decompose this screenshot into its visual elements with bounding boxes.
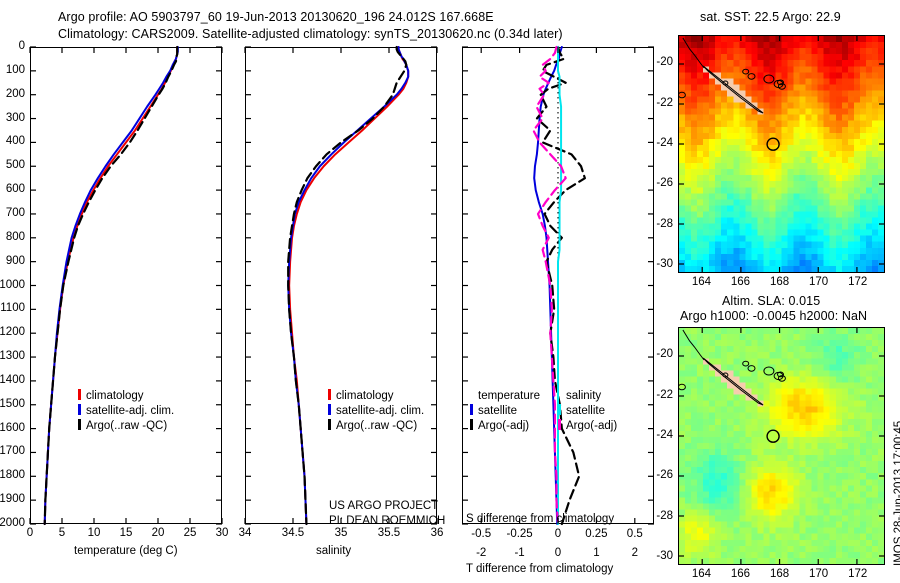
x-tick-label: 34.5 [282,527,304,539]
temperature-y-ticks: 0100200300400500600700800900100011001200… [0,47,30,524]
difference-legend: temperaturesatelliteArgo(-adj)salinitysa… [470,389,617,434]
temperature-legend-item: climatology [78,389,174,404]
map-x-tick-label: 170 [809,568,828,580]
x-tick-label: 25 [184,527,197,539]
y-tick-label: 500 [6,159,25,171]
salinity-legend-item: Argo(..raw -QC) [328,419,424,434]
y-tick-label: 400 [6,135,25,147]
salinity-legend-item: climatology [328,389,424,404]
x-tick-label: 0 [555,528,561,540]
y-tick-label: 1600 [0,422,25,434]
y-tick-label: 1700 [0,445,25,457]
x-tick-label: 15 [120,527,133,539]
difference-legend-header: salinity [558,389,617,404]
map-y-tick-label: -30 [656,550,673,562]
map-y-tick-label: -28 [656,510,673,522]
legend-color-swatch [328,404,331,415]
x-tick-label: -1 [514,547,524,559]
map-y-tick-label: -24 [656,429,673,441]
legend-label: satellite-adj. clim. [336,405,424,417]
legend-label: Argo(..raw -QC) [336,420,417,432]
salinity-axis-label: salinity [316,545,351,557]
figure-title-line2: Climatology: CARS2009. Satellite-adjuste… [58,27,563,41]
sla-map-x-ticks: 164166168170172 [678,568,885,583]
map-x-tick-label: 166 [731,276,750,288]
map-x-tick-label: 164 [692,568,711,580]
project-credit-line1: US ARGO PROJECT [329,500,438,512]
difference-plot [462,47,654,524]
sst-map-frame [678,35,885,273]
legend-color-swatch [470,404,473,415]
difference-legend-item: Argo(-adj) [470,419,540,434]
project-credit-line2: PI: DEAN ROEMMICH [329,515,445,527]
map-y-tick-label: -22 [656,97,673,109]
x-tick-label: 2 [632,547,638,559]
x-tick-label: 34 [239,527,252,539]
sst-map-field [679,36,884,272]
difference-legend-item: satellite [470,404,540,419]
y-tick-label: 600 [6,183,25,195]
map-x-tick-label: 172 [848,276,867,288]
legend-label: Argo(-adj) [566,420,617,432]
difference-x-ticks-bottom: -2-1012 [462,547,654,562]
temperature-legend-item: Argo(..raw -QC) [78,419,174,434]
map-y-tick-label: -26 [656,177,673,189]
y-tick-label: 200 [6,88,25,100]
y-tick-label: 0 [19,40,25,52]
y-tick-label: 100 [6,64,25,76]
x-tick-label: 0 [27,527,33,539]
salinity-legend-item: satellite-adj. clim. [328,404,424,419]
legend-label: Argo(-adj) [478,420,529,432]
temperature-legend: climatologysatellite-adj. clim.Argo(..ra… [78,389,174,434]
legend-color-swatch [78,404,81,415]
y-tick-label: 1400 [0,374,25,386]
map-y-tick-label: -30 [656,258,673,270]
difference-legend-column: salinitysatelliteArgo(-adj) [558,389,617,434]
map-x-tick-label: 170 [809,276,828,288]
difference-axis-label-top: S difference from climatology [466,513,614,525]
sst-map-title: sat. SST: 22.5 Argo: 22.9 [700,10,841,24]
x-tick-label: -2 [476,547,486,559]
x-tick-label: 30 [216,527,229,539]
sla-map-frame [678,327,885,565]
y-tick-label: 1500 [0,398,25,410]
difference-legend-header: temperature [470,389,540,404]
sst-map-y-ticks: -20-22-24-26-28-30 [648,35,678,273]
legend-label: satellite-adj. clim. [86,405,174,417]
x-tick-label: 0.5 [627,528,643,540]
sla-map-title-line2: Argo h1000: -0.0045 h2000: NaN [680,309,867,323]
temperature-plot [30,47,222,524]
legend-color-swatch [558,419,561,430]
map-y-tick-label: -24 [656,137,673,149]
legend-label: Argo(..raw -QC) [86,420,167,432]
y-tick-label: 1300 [0,350,25,362]
map-y-tick-label: -26 [656,469,673,481]
y-tick-label: 300 [6,112,25,124]
map-y-tick-label: -20 [656,348,673,360]
imos-watermark: IMOS 28-Jun-2013 17:00:45 [893,421,900,566]
x-tick-label: 1 [593,547,599,559]
map-y-tick-label: -22 [656,389,673,401]
map-x-tick-label: 164 [692,276,711,288]
legend-label: climatology [86,390,144,402]
y-tick-label: 1900 [0,493,25,505]
figure-title-line1: Argo profile: AO 5903797_60 19-Jun-2013 … [58,10,494,24]
legend-label: climatology [336,390,394,402]
legend-color-swatch [328,389,331,400]
difference-axis-label-bottom: T difference from climatology [466,563,613,575]
temperature-x-ticks: 051015202530 [30,527,222,543]
difference-legend-item: Argo(-adj) [558,419,617,434]
salinity-legend: climatologysatellite-adj. clim.Argo(..ra… [328,389,424,434]
map-x-tick-label: 168 [770,276,789,288]
map-x-tick-label: 172 [848,568,867,580]
legend-color-swatch [328,419,331,430]
map-x-tick-label: 168 [770,568,789,580]
x-tick-label: 20 [152,527,165,539]
difference-legend-item: satellite [558,404,617,419]
temperature-legend-item: satellite-adj. clim. [78,404,174,419]
x-tick-label: 35.5 [378,527,400,539]
x-tick-label: 0.25 [585,528,607,540]
x-tick-label: -0.5 [471,528,491,540]
map-x-tick-label: 166 [731,568,750,580]
difference-legend-column: temperaturesatelliteArgo(-adj) [470,389,540,434]
y-tick-label: 700 [6,207,25,219]
x-tick-label: 10 [88,527,101,539]
salinity-plot [245,47,437,524]
salinity-x-ticks: 3434.53535.536 [245,527,437,543]
y-tick-label: 800 [6,231,25,243]
legend-color-swatch [78,389,81,400]
legend-color-swatch [78,419,81,430]
legend-label: satellite [478,405,517,417]
x-tick-label: 0 [555,547,561,559]
legend-color-swatch [470,419,473,430]
map-y-tick-label: -20 [656,56,673,68]
x-tick-label: 36 [431,527,444,539]
y-tick-label: 1100 [0,302,25,314]
difference-x-ticks-top: -0.5-0.2500.250.5 [462,528,654,543]
y-tick-label: 900 [6,255,25,267]
x-tick-label: -0.25 [506,528,532,540]
map-y-tick-label: -28 [656,218,673,230]
sla-map-field [679,328,884,564]
x-tick-label: 35 [335,527,348,539]
y-tick-label: 2000 [0,517,25,529]
legend-color-swatch [558,404,561,415]
y-tick-label: 1000 [0,279,25,291]
temperature-axis-label: temperature (deg C) [74,545,178,557]
sla-map-title-line1: Altim. SLA: 0.015 [722,294,820,308]
legend-label: satellite [566,405,605,417]
y-tick-label: 1200 [0,326,25,338]
sst-map-x-ticks: 164166168170172 [678,276,885,291]
x-tick-label: 5 [59,527,65,539]
y-tick-label: 1800 [0,469,25,481]
sla-map-y-ticks: -20-22-24-26-28-30 [648,327,678,565]
